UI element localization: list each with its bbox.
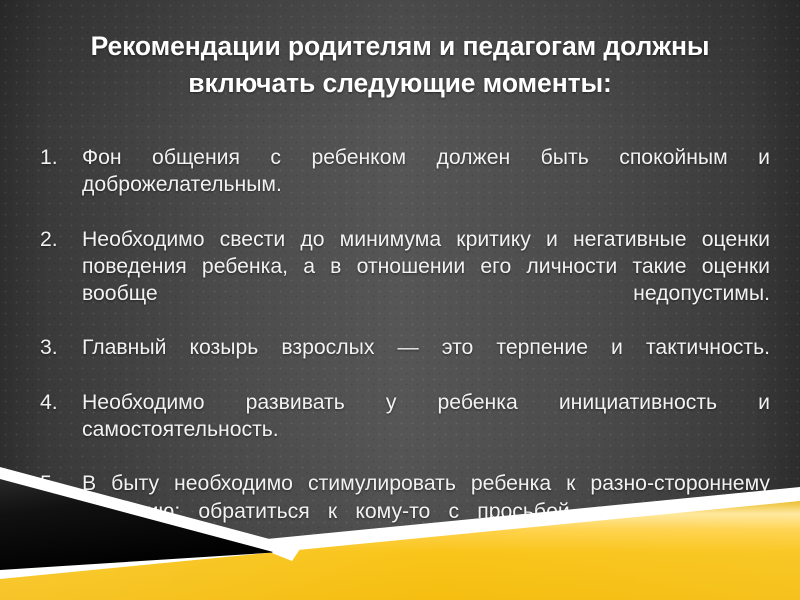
list-item: 4. Необходимо развивать у ребенка инициа… — [36, 389, 770, 471]
list-item-number: 1. — [36, 144, 82, 171]
list-item-number: 4. — [36, 389, 82, 416]
list-item: 6. На первых этапах присутствие и участи… — [36, 552, 770, 600]
slide-title: Рекомендации родителям и педагогам должн… — [48, 28, 752, 102]
list-item: 1. Фон общения с ребенком должен быть сп… — [36, 144, 770, 226]
list-item: 2. Необходимо свести до минимума критику… — [36, 226, 770, 335]
list-item-number: 2. — [36, 226, 82, 253]
list-item-number: 6. — [36, 552, 82, 579]
slide-title-line-2: включать следующие моменты: — [48, 65, 752, 102]
slide-title-line-1: Рекомендации родителям и педагогам должн… — [48, 28, 752, 65]
recommendations-list: 1. Фон общения с ребенком должен быть сп… — [36, 144, 770, 600]
list-item: 3. Главный козырь взрослых — это терпени… — [36, 334, 770, 388]
slide-canvas: Рекомендации родителям и педагогам должн… — [0, 0, 800, 600]
list-item-text: Главный козырь взрослых — это терпение и… — [82, 334, 770, 388]
list-item-text: В быту необходимо стимулировать ребенка … — [82, 470, 770, 552]
list-item-number: 5. — [36, 470, 82, 497]
list-item-text: На первых этапах присутствие и участие з… — [82, 552, 770, 600]
list-item-text: Необходимо свести до минимума критику и … — [82, 226, 770, 335]
list-item-text: Необходимо развивать у ребенка инициатив… — [82, 389, 770, 471]
list-item-text: Фон общения с ребенком должен быть споко… — [82, 144, 770, 226]
list-item-number: 3. — [36, 334, 82, 361]
list-item: 5. В быту необходимо стимулировать ребен… — [36, 470, 770, 552]
